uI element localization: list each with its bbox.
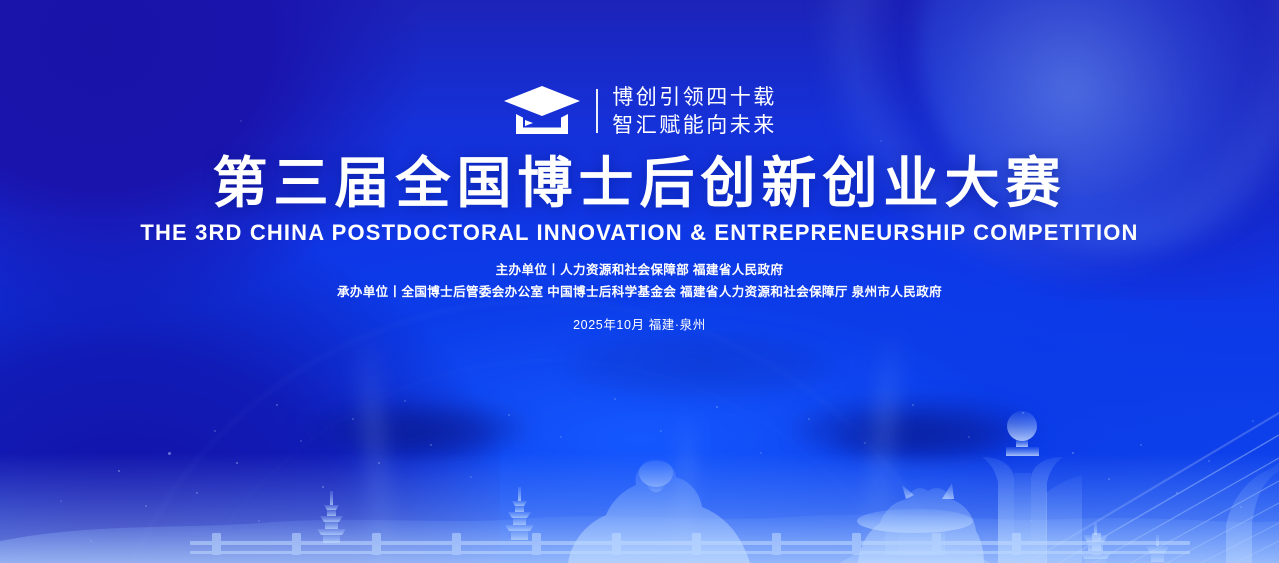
organizer-block: 主办单位丨人力资源和社会保障部 福建省人民政府 承办单位丨全国博士后管委会办公室… xyxy=(0,261,1279,302)
logo-row: 博创引领四十载 智汇赋能向未来 xyxy=(0,84,1279,138)
competition-banner: 博创引领四十载 智汇赋能向未来 第三届全国博士后创新创业大赛 THE 3RD C… xyxy=(0,0,1279,563)
slogan-line-2: 智汇赋能向未来 xyxy=(612,113,777,138)
page-title-chinese: 第三届全国博士后创新创业大赛 xyxy=(0,152,1279,214)
host-organizer-line: 主办单位丨人力资源和社会保障部 福建省人民政府 xyxy=(0,261,1279,280)
co-organizer-line: 承办单位丨全国博士后管委会办公室 中国博士后科学基金会 福建省人力资源和社会保障… xyxy=(0,283,1279,302)
banner-content: 博创引领四十载 智汇赋能向未来 第三届全国博士后创新创业大赛 THE 3RD C… xyxy=(0,0,1279,563)
date-location-line: 2025年10月 福建·泉州 xyxy=(0,316,1279,334)
logo-divider xyxy=(596,89,598,133)
slogan-line-1: 博创引领四十载 xyxy=(612,85,777,110)
slogan-block: 博创引领四十载 智汇赋能向未来 xyxy=(612,85,777,138)
page-title-english: THE 3RD CHINA POSTDOCTORAL INNOVATION & … xyxy=(0,219,1279,247)
graduation-cap-logo-icon xyxy=(502,84,582,138)
